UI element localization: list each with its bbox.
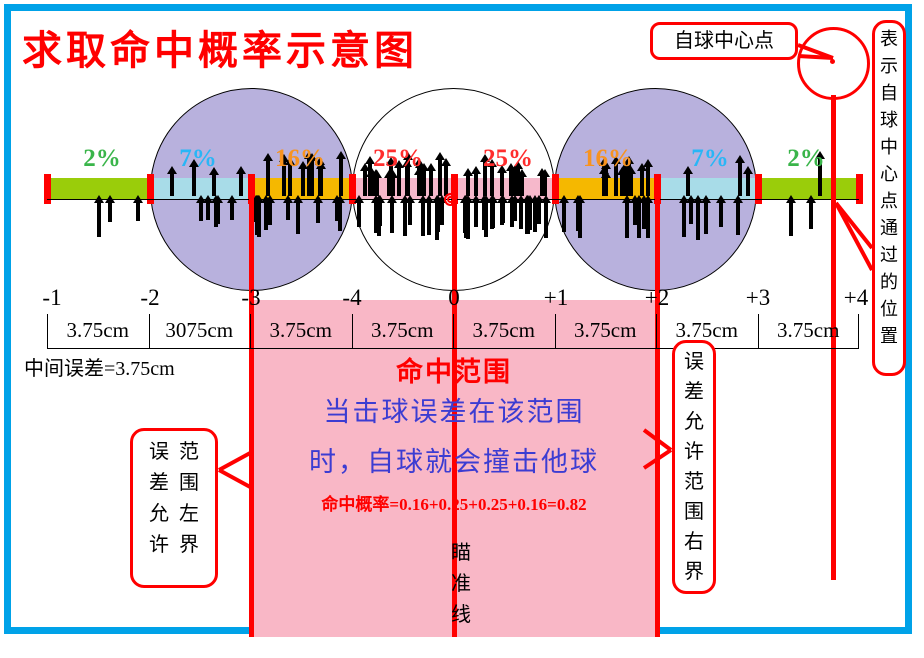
callout-left-char-4: 范 [174,437,204,468]
measurement-table: 3.75cm3075cm3.75cm3.75cm3.75cm3.75cm3.75… [47,312,859,348]
left-boundary-line [249,186,254,637]
percent-label-6: 7% [691,145,729,173]
diagram-canvas: 2%7%16%25%25%16%7%2% -1-2-3-40+1+2+3+4 3… [0,0,924,658]
measure-separator-end [858,314,859,348]
measure-separator-7 [758,314,759,348]
callout-far-char-9: 的 [875,269,903,296]
axis-number-8: +4 [844,285,868,311]
axis-number-4: 0 [448,285,460,311]
measure-cell-1: 3075cm [149,312,251,348]
measurement-table-baseline [47,348,859,349]
callout-far-char-1: 示 [875,53,903,80]
measure-separator-5 [555,314,556,348]
callout-right-char-6: 右 [675,527,713,557]
callout-right-char-5: 围 [675,497,713,527]
hit-range-heading: 命中范围 [396,350,512,389]
percent-label-1: 7% [179,145,217,173]
page-title: 求取命中概率示意图 [22,18,418,76]
percent-label-3: 25% [373,145,423,173]
middle-error-note: 中间误差=3.75cm [24,352,175,381]
percent-label-2: 16% [275,145,325,173]
callout-left-char-6: 左 [174,499,204,530]
hit-probability-formula: 命中概率=0.16+0.25+0.25+0.16=0.82 [321,490,586,515]
callout-left-col-1: 误差允许 [144,437,174,561]
hit-range-line-1: 当击球误差在该范围 [324,390,585,429]
measure-separator-3 [352,314,353,348]
callout-left-boundary: 误差允许范围左界 [130,428,218,588]
callout-left-char-0: 误 [144,437,174,468]
axis-number-1: -2 [140,285,159,311]
measure-cell-2: 3.75cm [250,312,352,348]
axis-number-7: +3 [746,285,770,311]
aiming-label-char-0: 瞄 [448,538,474,569]
callout-far-char-7: 通 [875,215,903,242]
callout-ball-center: 自球中心点 [650,22,798,60]
callout-ball-pass-position: 表示自球中心点通过的位置 [872,20,906,376]
axis-number-3: -4 [342,285,361,311]
callout-right-char-2: 允 [675,407,713,437]
callout-far-char-6: 点 [875,188,903,215]
callout-left-char-5: 围 [174,468,204,499]
callout-far-right-text: 表示自球中心点通过的位置 [875,26,903,350]
measure-separator-4 [453,314,454,348]
axis-number-0: -1 [42,285,61,311]
axis-number-2: -3 [241,285,260,311]
callout-right-char-0: 误 [675,347,713,377]
axis-number-5: +1 [544,285,568,311]
measure-cell-4: 3.75cm [453,312,555,348]
measure-separator-0 [47,314,48,348]
callout-left-boundary-text: 误差允许范围左界 [133,437,215,561]
callout-far-char-2: 自 [875,80,903,107]
measure-cell-5: 3.75cm [555,312,657,348]
callout-left-col-2: 范围左界 [174,437,204,561]
callout-far-char-8: 过 [875,242,903,269]
right-boundary-line [655,186,660,637]
callout-far-char-11: 置 [875,323,903,350]
measure-separator-1 [149,314,150,348]
callout-far-char-0: 表 [875,26,903,53]
callout-left-char-2: 允 [144,499,174,530]
measure-cell-7: 3.75cm [758,312,860,348]
aiming-label-char-2: 线 [448,600,474,631]
callout-far-char-5: 心 [875,161,903,188]
cue-ball-center-dot [830,59,835,64]
percent-label-4: 25% [483,145,533,173]
callout-right-char-3: 许 [675,437,713,467]
percent-label-7: 2% [787,145,825,173]
callout-left-char-7: 界 [174,530,204,561]
aiming-line-label: 瞄准线 [448,538,474,631]
measure-separator-2 [250,314,251,348]
percent-label-0: 2% [83,145,121,173]
callout-ball-center-text: 自球中心点 [653,25,795,57]
percent-label-5: 16% [583,145,633,173]
measure-cell-3: 3.75cm [352,312,454,348]
axis-number-6: +2 [645,285,669,311]
hit-range-line-2: 时，自球就会撞击他球 [309,440,599,479]
callout-right-char-4: 范 [675,467,713,497]
measure-cell-0: 3.75cm [47,312,149,348]
callout-far-char-3: 球 [875,107,903,134]
callout-far-char-4: 中 [875,134,903,161]
callout-right-boundary: 误差允许范围右界 [672,340,716,594]
measure-separator-6 [656,314,657,348]
aiming-label-char-1: 准 [448,569,474,600]
callout-left-char-3: 许 [144,530,174,561]
callout-right-char-7: 界 [675,557,713,587]
callout-right-boundary-text: 误差允许范围右界 [675,347,713,587]
callout-right-char-1: 差 [675,377,713,407]
callout-left-char-1: 差 [144,468,174,499]
callout-far-char-10: 位 [875,296,903,323]
